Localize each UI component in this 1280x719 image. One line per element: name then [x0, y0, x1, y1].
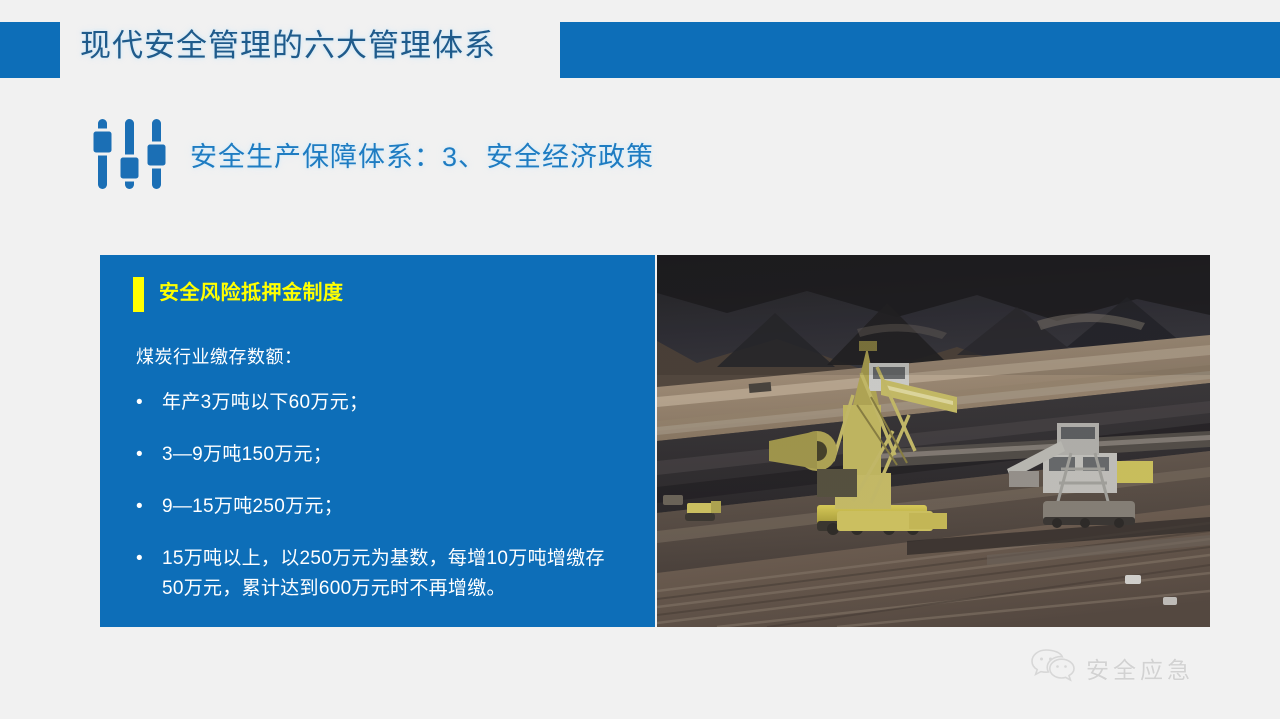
- list-item-text: 3—9万吨150万元；: [162, 440, 332, 470]
- watermark: 安全应急: [1030, 648, 1194, 687]
- bullet-marker: •: [136, 440, 162, 470]
- slide-canvas: 现代安全管理的六大管理体系 安全生产保障体系：3、安全经济政策 安全风: [0, 0, 1280, 719]
- header-block-left: [0, 22, 60, 78]
- card-title-row: 安全风险抵押金制度: [133, 276, 344, 312]
- list-item: • 9—15万吨250万元；: [136, 492, 626, 522]
- header-block-right: [560, 22, 1280, 78]
- bullet-marker: •: [136, 492, 162, 522]
- list-item: • 15万吨以上，以250万元为基数，每增10万吨增缴存50万元，累计达到600…: [136, 544, 626, 604]
- list-item-text: 15万吨以上，以250万元为基数，每增10万吨增缴存50万元，累计达到600万元…: [162, 544, 626, 604]
- open-pit-coal-mine-photo: [657, 255, 1210, 627]
- bullet-list: • 年产3万吨以下60万元； • 3—9万吨150万元； • 9—15万吨250…: [136, 388, 626, 604]
- card-lead-text: 煤炭行业缴存数额：: [136, 343, 303, 369]
- subtitle-text: 安全生产保障体系：3、安全经济政策: [190, 135, 654, 174]
- sliders-icon: [90, 117, 170, 193]
- bullet-marker: •: [136, 388, 162, 418]
- list-item: • 年产3万吨以下60万元；: [136, 388, 626, 418]
- wechat-icon: [1030, 648, 1076, 687]
- watermark-text: 安全应急: [1086, 651, 1194, 685]
- page-title: 现代安全管理的六大管理体系: [80, 20, 496, 65]
- list-item-text: 9—15万吨250万元；: [162, 492, 343, 522]
- bullet-marker: •: [136, 544, 162, 574]
- list-item: • 3—9万吨150万元；: [136, 440, 626, 470]
- content-card: 安全风险抵押金制度 煤炭行业缴存数额： • 年产3万吨以下60万元； • 3—9…: [100, 255, 655, 627]
- list-item-text: 年产3万吨以下60万元；: [162, 388, 368, 418]
- accent-bar: [133, 277, 144, 312]
- card-title: 安全风险抵押金制度: [159, 276, 344, 310]
